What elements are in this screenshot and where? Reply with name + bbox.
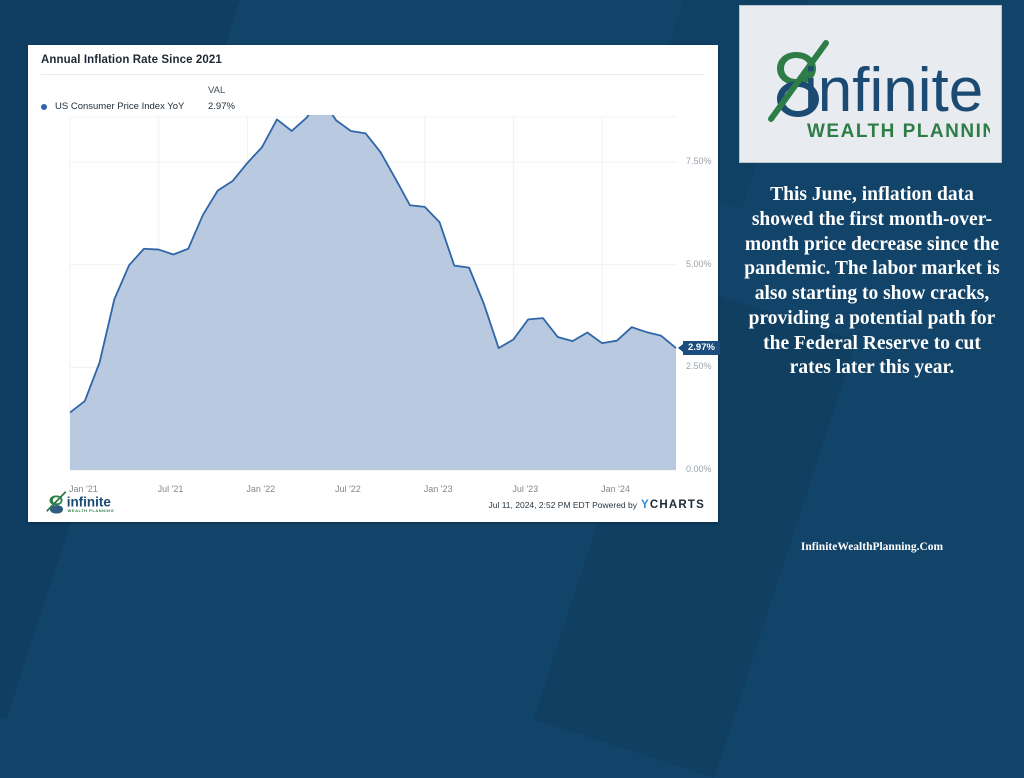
- y-axis-tick-label: 5.00%: [686, 259, 712, 269]
- plot-area: 0.00%2.50%5.00%7.50% Jan '21Jul '21Jan '…: [42, 115, 704, 505]
- chart-footer: infinite WEALTH PLANNING Jul 11, 2024, 2…: [28, 482, 718, 522]
- chart-card: Annual Inflation Rate Since 2021 VAL US …: [28, 45, 718, 522]
- commentary-text: This June, inflation data showed the fir…: [744, 183, 1000, 381]
- logo-wordmark: infinite: [804, 56, 983, 125]
- ycharts-wordmark: CHARTS: [650, 499, 705, 511]
- y-axis-tick-label: 7.50%: [686, 156, 712, 166]
- legend-series-value: 2.97%: [208, 101, 235, 112]
- legend-value-header: VAL: [208, 85, 225, 96]
- y-axis-tick-label: 2.50%: [686, 361, 712, 371]
- watermark-wordmark: infinite: [67, 495, 112, 510]
- timestamp-text: Jul 11, 2024, 2:52 PM EDT Powered by: [488, 500, 637, 510]
- legend-series-row[interactable]: US Consumer Price Index YoY: [41, 101, 184, 112]
- legend-series-label: US Consumer Price Index YoY: [55, 101, 184, 112]
- ycharts-y-glyph: Y: [641, 499, 650, 511]
- watermark-tagline: WEALTH PLANNING: [68, 508, 115, 513]
- last-value-callout-badge: 2.97%: [683, 341, 720, 355]
- series-area-fill: [70, 115, 676, 470]
- watermark-logo: infinite WEALTH PLANNING: [42, 488, 136, 514]
- ycharts-logo: YCHARTS: [641, 499, 705, 511]
- legend-series-dot-icon: [41, 104, 47, 110]
- chart-title: Annual Inflation Rate Since 2021: [41, 54, 222, 66]
- inflation-area-chart[interactable]: [42, 115, 704, 505]
- header-divider: [41, 74, 705, 75]
- brand-logo-panel: infinite WEALTH PLANNING: [739, 5, 1002, 163]
- y-axis-tick-label: 0.00%: [686, 464, 712, 474]
- data-source-stamp: Jul 11, 2024, 2:52 PM EDT Powered by YCH…: [488, 499, 705, 511]
- infinite-wealth-planning-logo: infinite WEALTH PLANNING: [752, 23, 990, 145]
- logo-tagline: WEALTH PLANNING: [807, 121, 990, 142]
- website-url: InfiniteWealthPlanning.Com: [744, 541, 1000, 553]
